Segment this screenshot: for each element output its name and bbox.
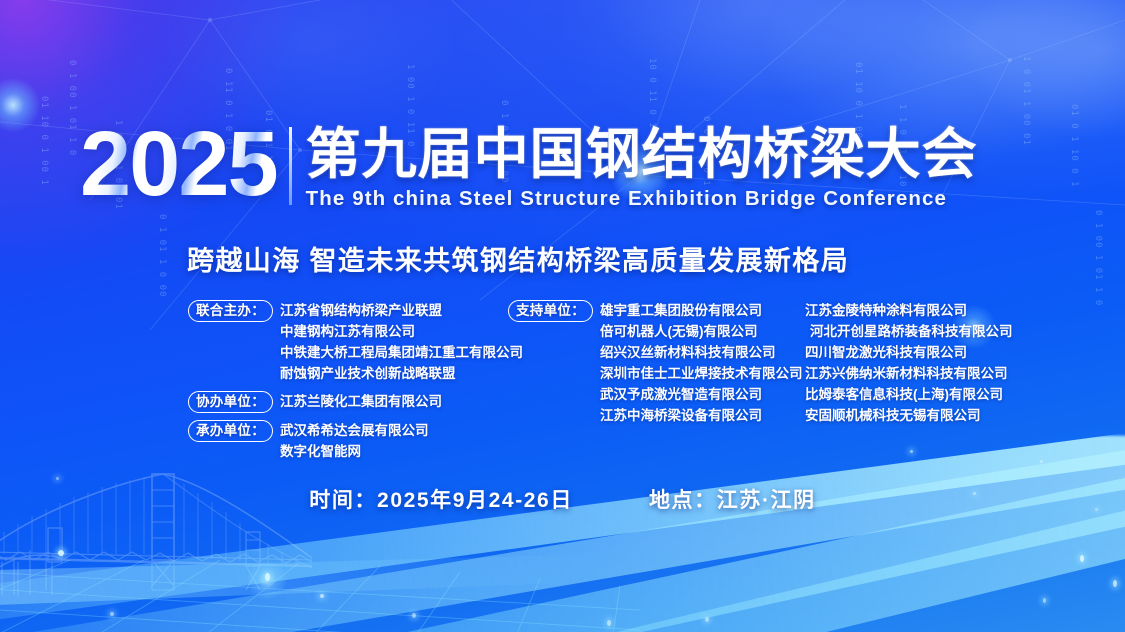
organizer-label-cohost: 协办单位： <box>188 391 273 413</box>
organizer-row: 支持单位： 雄宇重工集团股份有限公司 倍可机器人(无锡)有限公司 绍兴汉丝新材料… <box>508 300 808 426</box>
organizers-column-middle: 支持单位： 雄宇重工集团股份有限公司 倍可机器人(无锡)有限公司 绍兴汉丝新材料… <box>508 300 808 429</box>
organizers-section: 联合主办： 江苏省钢结构桥梁产业联盟 中建钢构江苏有限公司 中铁建大桥工程局集团… <box>0 300 1125 450</box>
event-date: 时间：2025年9月24-26日 <box>309 484 573 514</box>
supporter-name: 雄宇重工集团股份有限公司 <box>600 300 808 321</box>
organizers-column-left: 联合主办： 江苏省钢结构桥梁产业联盟 中建钢构江苏有限公司 中铁建大桥工程局集团… <box>188 300 498 469</box>
organizer-name: 数字化智能网 <box>280 441 498 462</box>
organizer-row: 协办单位： 江苏兰陵化工集团有限公司 <box>188 391 498 413</box>
conference-title-cn: 第九届中国钢结构桥梁大会 <box>306 123 978 185</box>
main-title-row: 2025 第九届中国钢结构桥梁大会 The 9th china Steel St… <box>80 121 978 211</box>
organizer-label-coorganizer: 联合主办： <box>188 300 273 322</box>
supporter-name: 武汉予成激光智造有限公司 <box>600 384 808 405</box>
organizer-label-supporter: 支持单位： <box>508 300 593 322</box>
supporter-name: 绍兴汉丝新材料科技有限公司 <box>600 342 808 363</box>
organizer-name: 江苏省钢结构桥梁产业联盟 <box>280 300 523 321</box>
organizer-row: 联合主办： 江苏省钢结构桥梁产业联盟 中建钢构江苏有限公司 中铁建大桥工程局集团… <box>188 300 498 384</box>
supporter-name: 深圳市佳士工业焊接技术有限公司 <box>600 363 808 384</box>
organizer-name: 中铁建大桥工程局集团靖江重工有限公司 <box>280 342 523 363</box>
organizer-group: 承办单位： 武汉希希达会展有限公司 数字化智能网 <box>188 420 498 462</box>
organizers-column-right: 江苏金陵特种涂料有限公司 河北开创星路桥装备科技有限公司 四川智龙激光科技有限公… <box>805 300 1115 426</box>
organizer-name: 中建钢构江苏有限公司 <box>280 321 523 342</box>
supporter-name: 安固顺机械科技无锡有限公司 <box>805 405 1115 426</box>
banner-content: 2025 第九届中国钢结构桥梁大会 The 9th china Steel St… <box>0 0 1125 632</box>
supporter-name: 江苏中海桥梁设备有限公司 <box>600 405 808 426</box>
conference-banner: 01 10 0 1 00 1 0 1 00 1 01 1 0 1 0 01 1 … <box>0 0 1125 632</box>
title-block: 第九届中国钢结构桥梁大会 The 9th china Steel Structu… <box>306 121 978 211</box>
organizer-group: 联合主办： 江苏省钢结构桥梁产业联盟 中建钢构江苏有限公司 中铁建大桥工程局集团… <box>188 300 498 384</box>
year-logo: 2025 <box>80 121 289 207</box>
title-divider <box>289 127 292 205</box>
organizer-name: 武汉希希达会展有限公司 <box>280 420 498 441</box>
conference-slogan: 跨越山海 智造未来共筑钢结构桥梁高质量发展新格局 <box>187 239 849 278</box>
event-location: 地点：江苏·江阴 <box>649 484 816 514</box>
supporter-name: 河北开创星路桥装备科技有限公司 <box>805 321 1115 342</box>
organizer-label-undertaker: 承办单位： <box>188 420 273 442</box>
supporter-names: 江苏金陵特种涂料有限公司 河北开创星路桥装备科技有限公司 四川智龙激光科技有限公… <box>805 300 1115 426</box>
organizer-row: 承办单位： 武汉希希达会展有限公司 数字化智能网 <box>188 420 498 462</box>
organizer-names: 江苏兰陵化工集团有限公司 <box>280 391 498 412</box>
organizer-name: 耐蚀钢产业技术创新战略联盟 <box>280 363 523 384</box>
supporter-name: 比姆泰客信息科技(上海)有限公司 <box>805 384 1115 405</box>
supporter-name: 江苏金陵特种涂料有限公司 <box>805 300 1115 321</box>
organizer-name: 江苏兰陵化工集团有限公司 <box>280 391 498 412</box>
organizer-names: 武汉希希达会展有限公司 数字化智能网 <box>280 420 498 462</box>
footer-info: 时间：2025年9月24-26日 地点：江苏·江阴 <box>0 484 1125 514</box>
supporter-name: 四川智龙激光科技有限公司 <box>805 342 1115 363</box>
conference-title-en: The 9th china Steel Structure Exhibition… <box>306 187 978 211</box>
supporter-names: 雄宇重工集团股份有限公司 倍可机器人(无锡)有限公司 绍兴汉丝新材料科技有限公司… <box>600 300 808 426</box>
organizer-names: 江苏省钢结构桥梁产业联盟 中建钢构江苏有限公司 中铁建大桥工程局集团靖江重工有限… <box>280 300 523 384</box>
supporter-name: 江苏兴佛纳米新材料科技有限公司 <box>805 363 1115 384</box>
supporter-name: 倍可机器人(无锡)有限公司 <box>600 321 808 342</box>
organizer-group: 协办单位： 江苏兰陵化工集团有限公司 <box>188 391 498 413</box>
